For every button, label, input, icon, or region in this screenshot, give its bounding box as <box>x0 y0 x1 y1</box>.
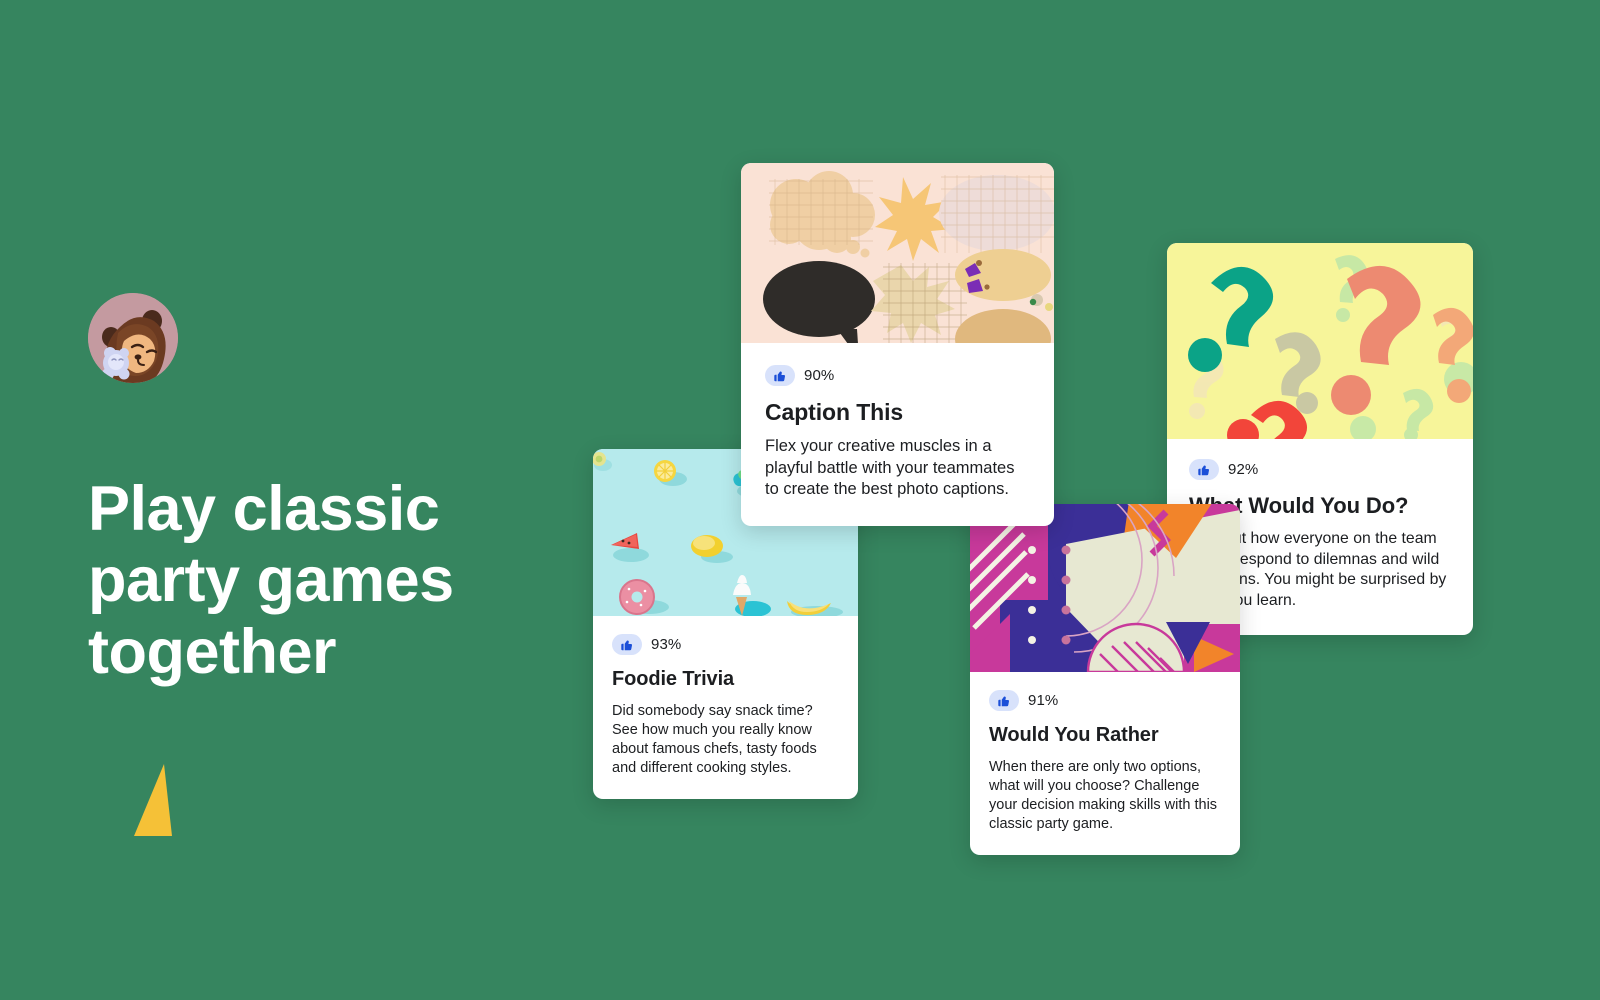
geometric-shapes-artwork <box>970 504 1240 672</box>
rating-badge: 91% <box>989 690 1221 711</box>
thumbs-up-icon <box>989 690 1019 711</box>
rating-value: 93% <box>651 636 681 653</box>
headline-line-3: together <box>88 617 608 688</box>
card-body: 91% Would You Rather When there are only… <box>970 672 1240 855</box>
card-body: 93% Foodie Trivia Did somebody say snack… <box>593 616 858 799</box>
card-body: 90% Caption This Flex your creative musc… <box>741 343 1054 526</box>
sleeping-bear-avatar-icon <box>88 293 178 383</box>
headline-line-2: party games <box>88 545 608 616</box>
card-thumbnail <box>1167 243 1473 439</box>
card-thumbnail <box>970 504 1240 672</box>
speech-bubbles-artwork <box>741 163 1054 343</box>
game-card-caption-this[interactable]: 90% Caption This Flex your creative musc… <box>741 163 1054 526</box>
avatar <box>88 293 178 383</box>
card-title: Would You Rather <box>989 724 1221 747</box>
card-description: Flex your creative muscles in a playful … <box>765 436 1030 499</box>
card-description: Did somebody say snack time? See how muc… <box>612 702 839 777</box>
yellow-pennant-triangle-icon <box>128 760 188 840</box>
rating-value: 92% <box>1228 461 1258 478</box>
card-thumbnail <box>741 163 1054 343</box>
question-marks-artwork <box>1167 243 1473 439</box>
rating-badge: 92% <box>1189 459 1451 480</box>
rating-badge: 90% <box>765 365 1030 386</box>
thumbs-up-icon <box>1189 459 1219 480</box>
card-title: Foodie Trivia <box>612 668 839 691</box>
card-title: Caption This <box>765 399 1030 425</box>
headline-line-1: Play classic <box>88 474 608 545</box>
thumbs-up-icon <box>612 634 642 655</box>
rating-badge: 93% <box>612 634 839 655</box>
rating-value: 90% <box>804 367 834 384</box>
game-card-would-you-rather[interactable]: 91% Would You Rather When there are only… <box>970 504 1240 855</box>
rating-value: 91% <box>1028 692 1058 709</box>
hero-stage: Play classic party games together <box>0 0 1600 1000</box>
thumbs-up-icon <box>765 365 795 386</box>
page-title: Play classic party games together <box>88 474 608 688</box>
card-description: When there are only two options, what wi… <box>989 758 1221 833</box>
